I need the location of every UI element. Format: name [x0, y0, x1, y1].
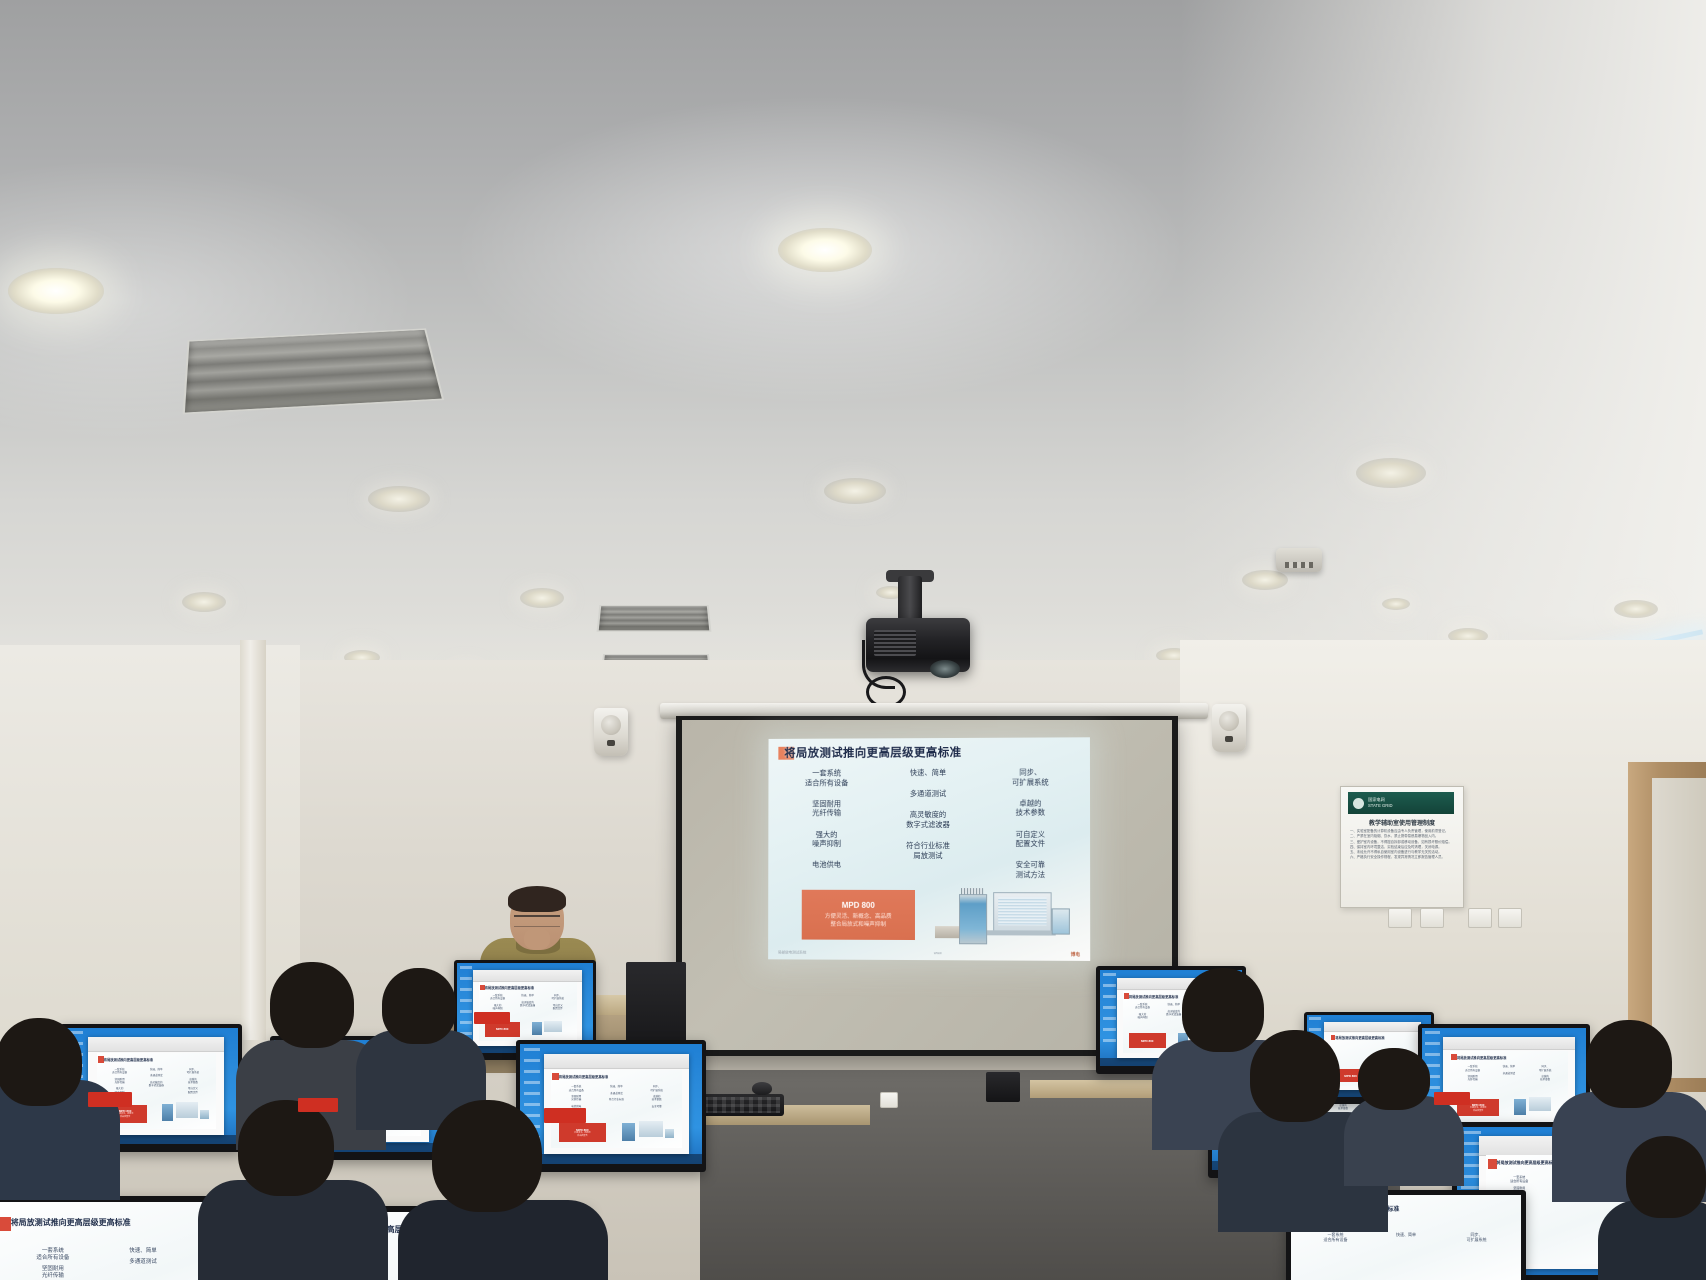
slide-callout-badge: [474, 1012, 510, 1024]
slide-feature: 电池供电: [776, 860, 877, 870]
slide-preview-callout: MPD 800: [485, 1022, 520, 1036]
monitor-screen[interactable]: 将局放测试推向更高层级更高标准 一套系统 适合所有设备 坚固耐用 光纤传输 电池…: [520, 1044, 702, 1164]
slide-preview: 将局放测试推向更高层级更高标准 一套系统 适合所有设备 坚固耐用 光纤传输 快速…: [1450, 1051, 1568, 1122]
callout-title: MPD 800: [1344, 1074, 1357, 1078]
feature: 一套系统 适合所有设备: [1493, 1176, 1545, 1184]
student-head: [0, 1018, 82, 1106]
feature: 多通道测试: [1491, 1072, 1527, 1075]
slide-preview-col-3: 同步、 可扩展系统 卓越的 技术参数: [1527, 1065, 1563, 1084]
slide-feature: 多通道测试: [877, 789, 979, 799]
slide-feature: 强大的 噪声抑制: [776, 830, 877, 849]
feature: 可自定义 配置文件: [175, 1087, 212, 1094]
downlight-icon: [1614, 600, 1658, 618]
slide-preview-devices: [618, 1121, 676, 1143]
downlight-icon: [1242, 570, 1288, 590]
device-accessory: [935, 926, 959, 938]
feature: 一套系统 适合所有设备: [101, 1068, 138, 1075]
slide-feature: 同步、 可扩展系统: [979, 767, 1082, 787]
wall-pillar: [240, 640, 266, 1040]
device-laptop: [544, 1021, 562, 1033]
desktop-icons[interactable]: [460, 966, 472, 1038]
device-tower: [532, 1022, 541, 1035]
slide-feature: 一套系统 适合所有设备: [776, 768, 877, 787]
slide-product-name: MPD 800: [842, 900, 875, 909]
wall-noticeboard: 国家电网 STATE GRID 教学辅助室使用管理制度 一、实验室配备的计算机设…: [1340, 786, 1464, 908]
callout-sub: 方便灵活、新概念 高品质整合: [574, 1132, 591, 1138]
slide-preview-devices: [157, 1102, 210, 1123]
feature: 坚固耐用 光纤传输: [1455, 1075, 1491, 1082]
slide-column-2: 快速、简单 多通道测试 高灵敏度的 数字式滤波器 符合行业标准 局放测试: [877, 768, 979, 891]
slide-preview-col-2: 快速、简单 多通道测试 符合行业标准: [596, 1085, 636, 1111]
document-window[interactable]: 将局放测试推向更高层级更高标准 一套系统 适合所有设备 坚固耐用 光纤传输 电池…: [544, 1054, 690, 1155]
student-head: [432, 1100, 542, 1212]
slide-product-callout: MPD 800 方便灵活、新概念、高品质 整合局放式和噪声抑制: [802, 890, 915, 940]
projected-slide: 将局放测试推向更高层级更高标准 一套系统 适合所有设备 坚固耐用 光纤传输 强大…: [768, 737, 1090, 961]
power-socket-icon[interactable]: [1388, 908, 1412, 928]
window-titlebar[interactable]: [1324, 1022, 1421, 1033]
slide-preview-col-1: 一套系统 适合所有设备 强大的 噪声抑制: [1127, 1003, 1158, 1022]
air-vent-icon: [597, 605, 712, 632]
noticeboard-title: 教学辅助室使用管理制度: [1341, 818, 1463, 827]
feature: 一套系统 适合所有设备: [483, 994, 513, 1001]
feature: 坚固耐用 光纤传输: [556, 1095, 596, 1102]
feature: 一套系统 适合所有设备: [1127, 1003, 1158, 1010]
device-laptop-screen: [998, 897, 1046, 925]
power-socket-icon[interactable]: [1420, 908, 1444, 928]
callout-sub: 方便灵活、新概念 高品质整合: [1470, 1107, 1487, 1113]
slide-preview-col-1: 一套系统 适合所有设备 坚固耐用 光纤传输: [1455, 1065, 1491, 1084]
downlight-icon: [368, 486, 430, 512]
air-vent-icon: [183, 328, 445, 414]
slide-preview-title: 将局放测试推向更高层级更高标准: [559, 1074, 608, 1079]
slide-column-1: 一套系统 适合所有设备 坚固耐用 光纤传输 强大的 噪声抑制 电池供电: [776, 768, 877, 891]
downlight-icon: [1356, 458, 1426, 488]
downlight-icon: [778, 228, 872, 272]
slide-feature: 高灵敏度的 数字式滤波器: [877, 810, 979, 829]
feature: 多通道测试: [138, 1074, 175, 1077]
slide-callout-badge: [88, 1092, 132, 1107]
window-titlebar[interactable]: [544, 1054, 690, 1069]
slide-preview-col-1: 一套系统 适合所有设备 坚固耐用 光纤传输: [8, 1248, 98, 1280]
noticeboard-rules: 一、实验室配备的计算机设备应由专人负责管理，使用前须登记。 二、严禁在室内吸烟、…: [1350, 829, 1454, 861]
feature: 快速、简单: [98, 1248, 188, 1255]
student-shoulders: [398, 1200, 608, 1280]
slide-preview-devices: [1510, 1097, 1562, 1117]
feature: 快速、简单: [1371, 1232, 1442, 1237]
slide-product-image: [935, 886, 1078, 945]
device-tower: [622, 1123, 635, 1141]
feature: 快速、简单: [513, 994, 543, 997]
slide-preview-col-3: 同步、 可扩展系统 卓越的 技术参数 安全可靠: [637, 1085, 677, 1111]
monitor: 将局放测试推向更高层级更高标准 一套系统 适合所有设备 坚固耐用 光纤传输 电池…: [516, 1040, 706, 1172]
feature: 一套系统 适合所有设备: [1300, 1232, 1371, 1242]
presenter-glasses: [514, 915, 560, 927]
slide-title: 将局放测试推向更高层级更高标准: [784, 743, 1084, 760]
downlight-icon: [8, 268, 104, 314]
feature: 快速、简单: [1491, 1065, 1527, 1068]
device-laptop: [993, 892, 1052, 934]
state-grid-logo-icon: [1353, 798, 1364, 809]
feature: 快速、简单: [138, 1068, 175, 1071]
feature: 一套系统 适合所有设备: [8, 1248, 98, 1262]
student-head: [1586, 1020, 1672, 1108]
slide-preview-columns: 一套系统 适合所有设备 快速、简单 同步、 可扩展系统: [1300, 1232, 1512, 1246]
feature: 同步、 可扩展系统: [175, 1068, 212, 1075]
feature: 强大的 噪声抑制: [1127, 1013, 1158, 1020]
student-head: [238, 1100, 334, 1196]
feature: 一套系统 适合所有设备: [556, 1085, 596, 1092]
feature: 卓越的 技术参数: [1527, 1075, 1563, 1082]
desktop-tower: [986, 1072, 1020, 1102]
downlight-icon: [520, 588, 564, 608]
desktop-icons[interactable]: [1103, 973, 1116, 1050]
slide-preview-col-3: 同步、 可扩展系统: [1441, 1232, 1512, 1246]
student-head: [1182, 968, 1264, 1052]
slide-preview-title: 将局放测试推向更高层级更高标准: [11, 1217, 131, 1228]
device-tablet: [1052, 908, 1070, 934]
power-socket-icon[interactable]: [1498, 908, 1522, 928]
feature: 同步、 可扩展系统: [1441, 1232, 1512, 1242]
device-laptop: [176, 1102, 198, 1117]
feature: 高灵敏度的 数字式滤波器: [513, 1001, 543, 1008]
slide-preview-title: 将局放测试推向更高层级更高标准: [1335, 1035, 1384, 1040]
mouse[interactable]: [752, 1082, 772, 1095]
slide-preview-col-3: 同步、 可扩展系统 卓越的 技术参数 可自定义 配置文件: [175, 1068, 212, 1097]
slide-preview-columns: 一套系统 适合所有设备 强大的 噪声抑制 快速、简单 高灵敏度的 数字式滤波器 …: [483, 994, 573, 1013]
slide-preview-col-1: 一套系统 适合所有设备 强大的 噪声抑制: [483, 994, 513, 1013]
slide-preview-col-1: 一套系统 适合所有设备: [1300, 1232, 1371, 1246]
keyboard-keys: [704, 1097, 780, 1113]
slide-preview-title: 将局放测试推向更高层级更高标准: [1497, 1160, 1557, 1166]
feature: 同步、 可扩展系统: [1527, 1065, 1563, 1072]
slide-preview-col-2: 快速、简单: [1371, 1232, 1442, 1246]
feature: 强大的 噪声抑制: [483, 1004, 513, 1011]
student-head: [1358, 1048, 1430, 1110]
slide-callout-badge: [298, 1098, 338, 1112]
slide-preview-callout: MPD 800 方便灵活、新概念 高品质整合: [559, 1123, 606, 1142]
slide-preview-title: 将局放测试推向更高层级更高标准: [1129, 994, 1178, 999]
speaker-icon: [594, 708, 628, 756]
slide-product-tagline: 方便灵活、新概念、高品质 整合局放式和噪声抑制: [825, 912, 892, 929]
feature: 同步、 可扩展系统: [637, 1085, 677, 1092]
power-socket-icon[interactable]: [1468, 908, 1492, 928]
window-titlebar[interactable]: [1443, 1037, 1574, 1051]
student-head: [382, 968, 456, 1044]
slide-preview-callout: MPD 800: [1129, 1033, 1166, 1048]
noticeboard-header: 国家电网 STATE GRID: [1348, 792, 1454, 814]
slide-preview-title: 将局放测试推向更高层级更高标准: [104, 1057, 153, 1062]
noticeboard-org-name-en: STATE GRID: [1368, 803, 1393, 809]
slide-feature-columns: 一套系统 适合所有设备 坚固耐用 光纤传输 强大的 噪声抑制 电池供电 快速、简…: [776, 767, 1082, 891]
device-tower: [959, 894, 987, 944]
downlight-icon: [824, 478, 886, 504]
slide-feature: 安全可靠 测试方法: [979, 860, 1082, 879]
feature: 可自定义 配置文件: [543, 1004, 573, 1011]
callout-title: MPD 800: [496, 1027, 509, 1031]
slide-preview-col-2: 快速、简单 多通道测试: [1491, 1065, 1527, 1084]
feature: 坚固耐用 光纤传输: [8, 1266, 98, 1280]
window-titlebar[interactable]: [88, 1037, 224, 1052]
feature: 同步、 可扩展系统: [543, 994, 573, 1001]
keyboard[interactable]: [700, 1094, 784, 1116]
student-head: [270, 962, 354, 1048]
feature: 卓越的 技术参数: [637, 1095, 677, 1102]
slide-callout-badge: [544, 1108, 586, 1123]
slide-preview-title: 将局放测试推向更高层级更高标准: [485, 985, 534, 990]
feature: 多通道测试: [98, 1259, 188, 1266]
student-head: [1626, 1136, 1706, 1218]
speaker-tweeter: [607, 740, 615, 746]
feature: 高灵敏度的 数字式滤波器: [138, 1081, 175, 1088]
power-socket-icon[interactable]: [880, 1092, 898, 1108]
callout-title: MPD 800: [1141, 1039, 1154, 1043]
device-laptop: [1529, 1097, 1551, 1111]
feature: 卓越的 技术参数: [175, 1078, 212, 1085]
speaker-tweeter: [1225, 736, 1233, 742]
slide-accent: [1488, 1159, 1497, 1169]
slide-preview-col-2: 快速、简单 高灵敏度的 数字式滤波器: [513, 994, 543, 1013]
device-tower: [1514, 1099, 1525, 1115]
slide-feature: 卓越的 技术参数: [979, 798, 1082, 818]
smoke-detector-vents: [1285, 562, 1313, 568]
device-tower: [162, 1104, 174, 1121]
slide-feature: 坚固耐用 光纤传输: [776, 799, 877, 818]
slide-footer: 局部放电测试系统 www 博电: [768, 950, 1090, 958]
slide-preview-devices: [529, 1021, 572, 1038]
slide-column-3: 同步、 可扩展系统 卓越的 技术参数 可自定义 配置文件 安全可靠 测试方法: [979, 767, 1082, 891]
slide-preview-col-3: 同步、 可扩展系统 可自定义 配置文件: [543, 994, 573, 1013]
feature: 符合行业标准: [596, 1098, 636, 1101]
slide-footer-center: www: [934, 951, 942, 957]
document-window[interactable]: 将局放测试推向更高层级更高标准 一套系统 适合所有设备 强大的 噪声抑制 快速、…: [473, 970, 582, 1046]
slide-accent: [552, 1073, 559, 1080]
feature: 快速、简单: [596, 1085, 636, 1088]
device-tablet: [200, 1110, 208, 1119]
feature: 坚固耐用 光纤传输: [101, 1078, 138, 1085]
speaker-cone: [1219, 711, 1239, 731]
slide-callout-badge: [1434, 1092, 1470, 1105]
windows-taskbar[interactable]: [520, 1154, 702, 1164]
device-laptop: [639, 1121, 663, 1137]
slide-accent: [0, 1217, 11, 1230]
slide-feature: 快速、简单: [877, 768, 979, 778]
feature: 多通道测试: [596, 1092, 636, 1095]
speaker-cone: [601, 715, 621, 735]
student-head: [1250, 1030, 1340, 1122]
slide-footer-left: 局部放电测试系统: [778, 950, 806, 956]
slide-preview-columns: 一套系统 适合所有设备 坚固耐用 光纤传输 快速、简单 多通道测试 同步、 可扩…: [1455, 1065, 1564, 1084]
presenter-hair: [508, 886, 566, 912]
slide-preview-col-2: 快速、简单 多通道测试 高灵敏度的 数字式滤波器: [138, 1068, 175, 1097]
projector-mount: [898, 576, 922, 622]
document-window[interactable]: 将局放测试推向更高层级更高标准 一套系统 适合所有设备 坚固耐用 光纤传输 快速…: [1443, 1037, 1574, 1128]
presenter-hand: [524, 928, 550, 950]
feature: 安全可靠: [637, 1105, 677, 1108]
downlight-icon: [1382, 598, 1410, 610]
projector-lens: [930, 660, 960, 678]
device-laptop-base: [987, 930, 1056, 935]
classroom-photo-scene: 将局放测试推向更高层级更高标准 一套系统 适合所有设备 坚固耐用 光纤传输 强大…: [0, 0, 1706, 1280]
slide-footer-brand: 博电: [1071, 952, 1080, 958]
slide-preview-col-2: 快速、简单 多通道测试: [98, 1248, 188, 1280]
slide-preview-title: 将局放测试推向更高层级更高标准: [1457, 1055, 1506, 1060]
window-titlebar[interactable]: [473, 970, 582, 982]
feature: 一套系统 适合所有设备: [1455, 1065, 1491, 1072]
speaker-icon: [1212, 704, 1246, 752]
device-tablet: [665, 1129, 674, 1139]
slide-feature: 可自定义 配置文件: [979, 829, 1082, 848]
downlight-icon: [182, 592, 226, 612]
smoke-detector-icon: [1276, 548, 1322, 572]
slide-feature: 符合行业标准 局放测试: [877, 841, 979, 860]
ceiling-right-highlight: [1180, 0, 1706, 700]
